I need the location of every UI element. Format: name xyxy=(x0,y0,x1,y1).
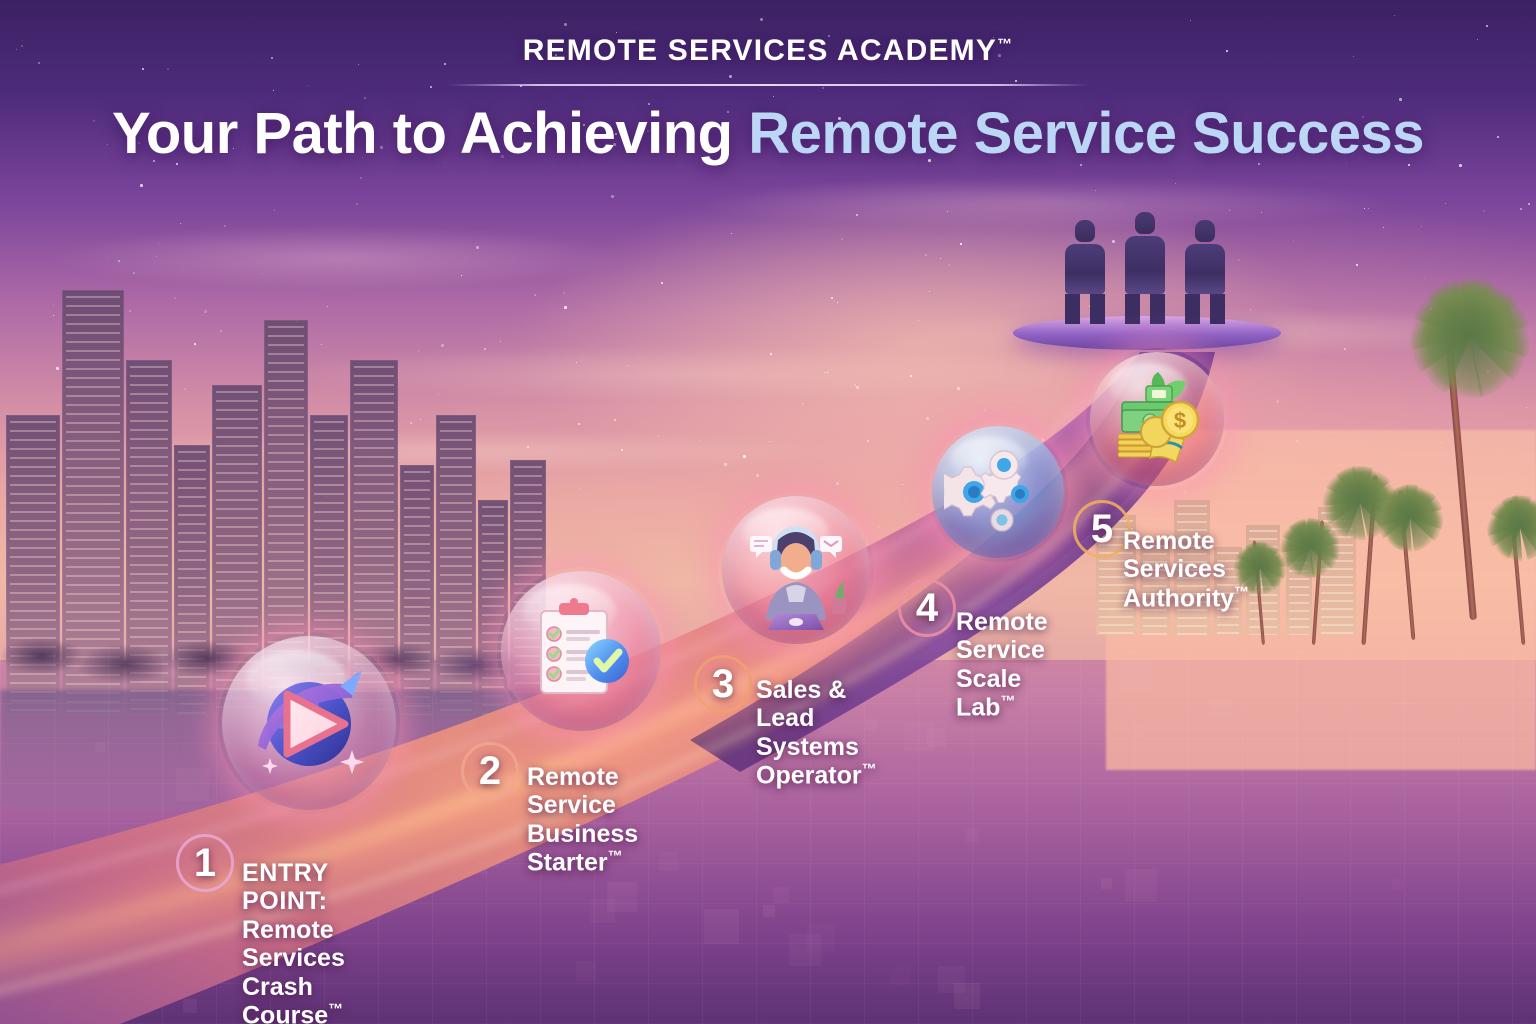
brand-kicker: REMOTE SERVICES ACADEMY™ xyxy=(0,34,1536,68)
headline-part-white: Your Path to Achieving xyxy=(112,101,733,166)
headline-part-blue: Remote Service Success xyxy=(748,101,1424,166)
brand-tm: ™ xyxy=(997,36,1013,53)
figure-right xyxy=(1185,220,1225,324)
clipboard-checklist-icon xyxy=(519,589,643,713)
step-title-3: Sales & Lead Systems Operator xyxy=(756,676,862,790)
badge-gears[interactable] xyxy=(932,426,1064,558)
step-number-1: 1 xyxy=(176,834,234,892)
rocket-play-icon xyxy=(240,654,378,792)
badge-agent[interactable] xyxy=(722,496,870,644)
step-label-4: Remote Service Scale Lab™ xyxy=(956,579,1048,722)
badge-money[interactable]: $ xyxy=(1090,352,1224,486)
figure-center xyxy=(1125,212,1165,324)
header: REMOTE SERVICES ACADEMY™ Your Path to Ac… xyxy=(0,0,1536,165)
summit-platform xyxy=(1013,316,1281,350)
figure-left xyxy=(1065,220,1105,324)
gears-icon xyxy=(944,438,1052,546)
step-label-1: ENTRY POINT:Remote Services Crash Course… xyxy=(242,830,345,1024)
svg-text:$: $ xyxy=(1174,408,1186,433)
step-tm-5: ™ xyxy=(1234,584,1249,601)
step-number-2: 2 xyxy=(461,742,519,800)
step-tm-3: ™ xyxy=(862,761,877,778)
step-tm-4: ™ xyxy=(1000,693,1015,710)
step-number-text: 5 xyxy=(1091,507,1113,552)
badge-clipboard[interactable] xyxy=(501,571,661,731)
step-tm-2: ™ xyxy=(608,848,623,865)
step-number-4: 4 xyxy=(898,579,956,637)
step-number-text: 4 xyxy=(916,586,938,631)
step-number-text: 3 xyxy=(712,662,734,707)
infographic-canvas: $ 1 ENTRY POINT:Remote Services Crash Co… xyxy=(0,0,1536,1024)
step-title-5: Remote Services Authority xyxy=(1123,527,1234,612)
header-divider xyxy=(448,84,1088,86)
money-stack-icon: $ xyxy=(1102,364,1212,474)
step-label-3: Sales & Lead Systems Operator™ xyxy=(756,647,877,790)
brand-name: REMOTE SERVICES ACADEMY xyxy=(523,34,997,67)
badge-rocket-play[interactable] xyxy=(222,636,396,810)
step-number-3: 3 xyxy=(694,655,752,713)
headset-agent-icon xyxy=(736,510,856,630)
step-number-text: 1 xyxy=(194,841,216,886)
page-title: Your Path to Achieving Remote Service Su… xyxy=(0,104,1536,165)
step-number-text: 2 xyxy=(479,749,501,794)
step-label-2: Remote Service Business Starter™ xyxy=(527,734,638,877)
step-tm-1: ™ xyxy=(328,1001,343,1018)
step-label-5: Remote Services Authority™ xyxy=(1123,498,1249,612)
step-eyebrow-1: ENTRY POINT: xyxy=(242,859,345,916)
